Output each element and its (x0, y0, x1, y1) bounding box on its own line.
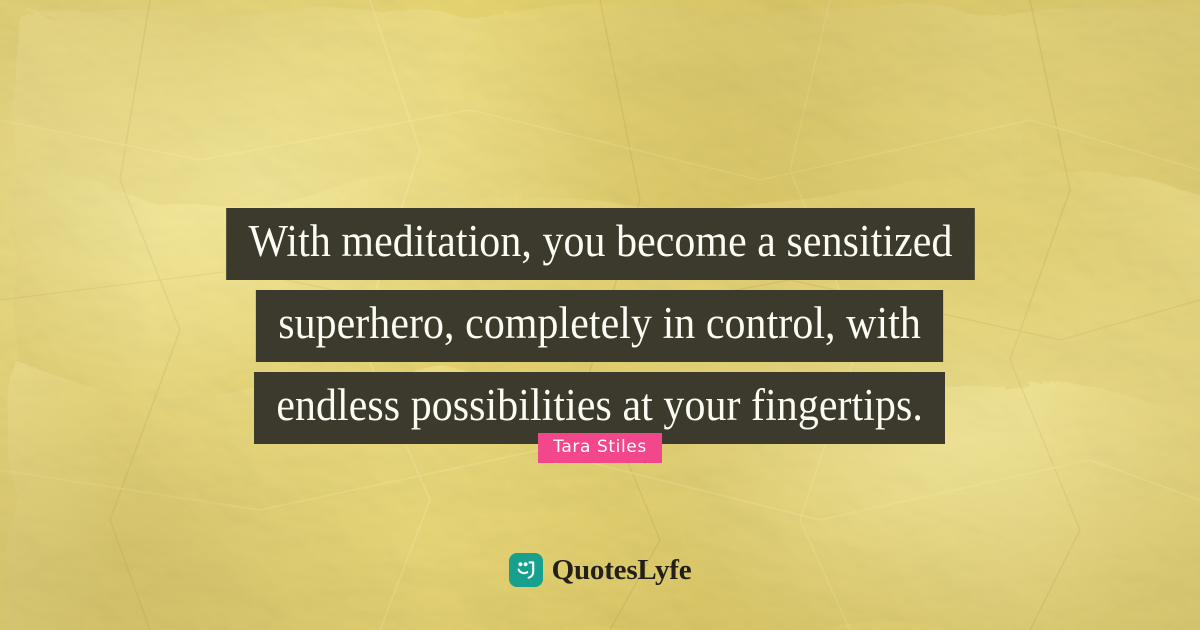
quote-line: With meditation, you become a sensitized (226, 208, 975, 280)
quote-smiley-icon (509, 553, 543, 587)
brand-logo[interactable]: QuotesLyfe (0, 553, 1200, 587)
quote-block: With meditation, you become a sensitized… (0, 0, 1200, 454)
author-badge-row: Tara Stiles (0, 433, 1200, 463)
brand-name: QuotesLyfe (552, 556, 692, 585)
quote-line: superhero, completely in control, with (256, 290, 943, 362)
author-name-badge: Tara Stiles (538, 433, 662, 463)
